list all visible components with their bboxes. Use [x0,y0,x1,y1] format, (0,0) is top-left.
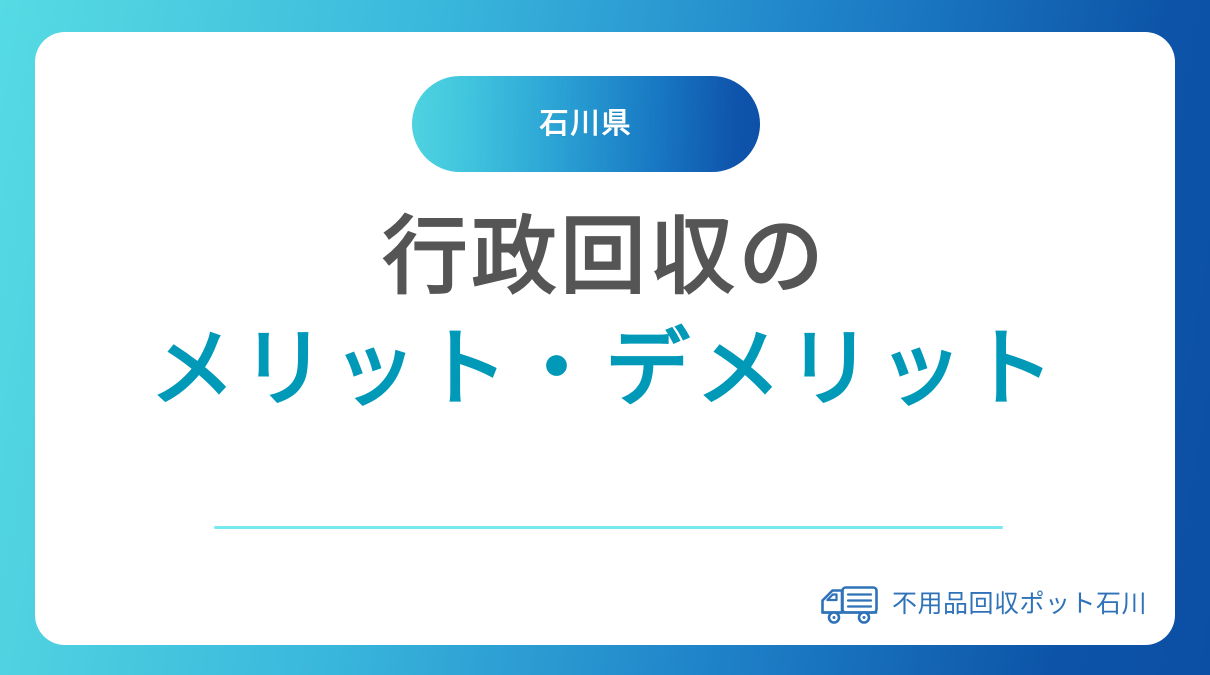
headline-line-accent: メリット・デメリット [35,314,1175,426]
page-title: 行政回収の メリット・デメリット [35,202,1175,426]
brand-name: 不用品回収ポット石川 [892,592,1147,617]
content-card: 石川県 行政回収の メリット・デメリット [35,32,1175,645]
divider [214,526,1003,529]
headline-line-primary: 行政回収の [35,202,1175,314]
delivery-truck-icon [818,582,880,626]
prefecture-badge: 石川県 [412,76,760,172]
prefecture-badge-label: 石川県 [539,110,632,139]
eyecatch-banner: 石川県 行政回収の メリット・デメリット [0,0,1210,675]
brand-logo: 不用品回収ポット石川 [818,582,1147,626]
